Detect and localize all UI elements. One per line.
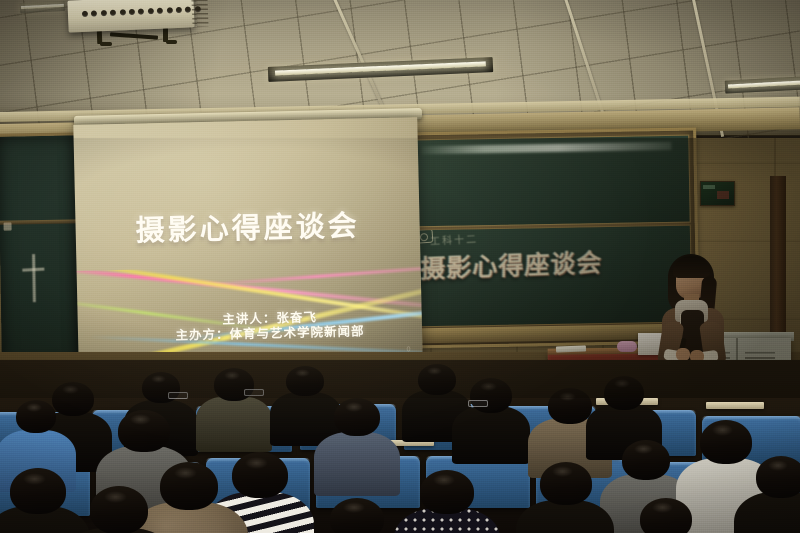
audience-head <box>16 400 56 433</box>
audience-head <box>622 440 670 480</box>
audience-head <box>420 470 474 514</box>
projector-vent-holes <box>82 6 201 17</box>
lecture-hall-photo: 工科十二 摄影心得座谈会 摄影心得座谈会 主讲人：张奋飞 主办方：体育与艺术学院… <box>0 0 800 533</box>
audience-shoulders <box>452 406 530 464</box>
audience-head <box>540 462 592 505</box>
audience-head <box>90 486 148 533</box>
audience-head <box>756 456 800 498</box>
audience-shoulders <box>196 396 272 452</box>
seat-writing-ledge <box>706 402 764 409</box>
audience-head <box>700 420 752 464</box>
audience-head <box>232 452 288 498</box>
wall-vignette <box>0 138 800 398</box>
projector-mount-foot <box>166 40 177 44</box>
eyeglasses <box>468 400 488 407</box>
fluorescent-tube <box>21 4 63 10</box>
projector-side-grille <box>191 0 208 27</box>
audience-head <box>160 462 218 510</box>
projector-mount-foot <box>100 42 112 46</box>
fluorescent-tube <box>728 79 800 88</box>
audience-shoulders <box>314 432 400 496</box>
audience-head <box>10 468 66 514</box>
audience-head <box>330 498 384 533</box>
audience-head <box>640 498 692 533</box>
audience-head <box>118 410 170 452</box>
audience-head <box>334 398 380 436</box>
ceiling-projector <box>67 0 194 33</box>
